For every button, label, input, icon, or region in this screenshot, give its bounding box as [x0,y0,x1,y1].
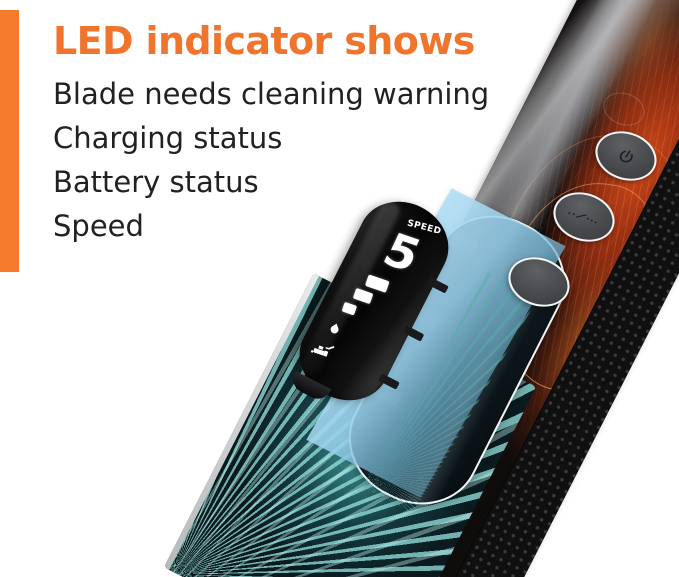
list-item: Battery status [53,160,523,204]
level-dots-icon [566,205,602,230]
teal-panel-rim [164,273,319,570]
water-drop-icon [327,320,343,336]
blue-sheet-fan-lines [361,271,538,514]
blade-head-tab [373,382,403,407]
list-item: Blade needs cleaning warning [53,72,523,116]
list-item: Speed [53,204,523,248]
power-icon [614,145,638,167]
product-feature-image: LED indicator shows Blade needs cleaning… [0,0,679,577]
module-side-tab [403,325,424,341]
power-button [585,122,667,191]
list-item: Charging status [53,116,523,160]
oil-can-icon [309,337,338,362]
teal-fan-lines [164,273,537,577]
module-end-cap [288,371,331,403]
teal-fan-lines-secondary [164,273,537,577]
level-button [543,183,625,252]
feature-list: Blade needs cleaning warning Charging st… [53,72,523,248]
module-side-tab [427,277,448,293]
button-reflection-ring [597,86,652,132]
text-block: LED indicator shows Blade needs cleaning… [53,18,523,248]
battery-bar [342,302,358,316]
blade-head-tab [411,306,441,331]
teal-graphic-panel [164,273,537,577]
orange-accent-bar [0,10,19,272]
battery-bar [365,274,390,293]
body-bottom-rim [287,560,483,577]
page-title: LED indicator shows [53,18,523,64]
module-side-tab [378,374,399,390]
secondary-button [498,248,580,317]
blade-head-sheen [394,229,570,516]
battery-bar [353,288,374,304]
